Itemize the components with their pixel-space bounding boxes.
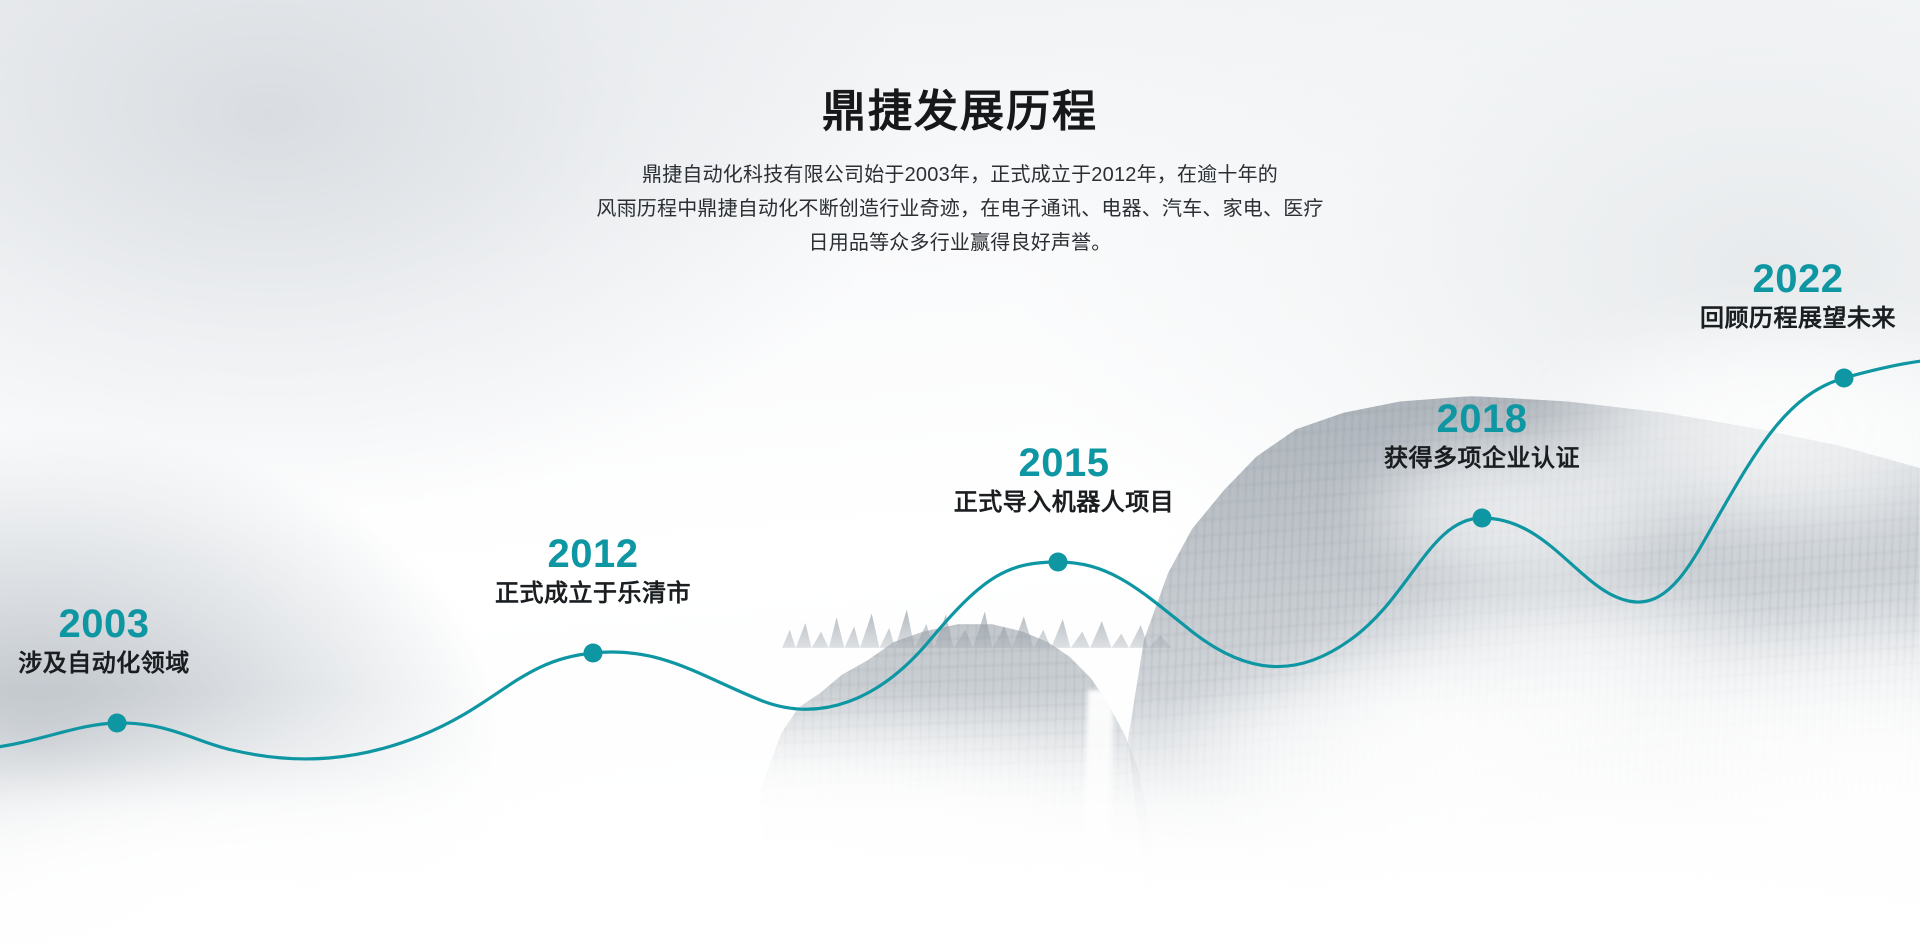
milestone-2003[interactable]: 2003涉及自动化领域 bbox=[18, 603, 190, 679]
page-title: 鼎捷发展历程 bbox=[0, 88, 1920, 136]
milestone-year: 2003 bbox=[18, 603, 190, 645]
description-line-1: 鼎捷自动化科技有限公司始于2003年，正式成立于2012年，在逾十年的 bbox=[550, 158, 1370, 192]
milestone-year: 2022 bbox=[1700, 258, 1896, 300]
milestone-year: 2015 bbox=[954, 442, 1175, 484]
page-description: 鼎捷自动化科技有限公司始于2003年，正式成立于2012年，在逾十年的 风雨历程… bbox=[550, 158, 1370, 260]
milestone-year: 2018 bbox=[1384, 398, 1580, 440]
milestone-2015[interactable]: 2015正式导入机器人项目 bbox=[954, 442, 1175, 518]
infographic-canvas: 鼎捷发展历程 鼎捷自动化科技有限公司始于2003年，正式成立于2012年，在逾十… bbox=[0, 0, 1920, 950]
milestone-year: 2012 bbox=[495, 533, 691, 575]
milestone-label: 获得多项企业认证 bbox=[1384, 444, 1580, 474]
description-line-2: 风雨历程中鼎捷自动化不断创造行业奇迹，在电子通讯、电器、汽车、家电、医疗 bbox=[550, 192, 1370, 226]
milestone-2022[interactable]: 2022回顾历程展望未来 bbox=[1700, 258, 1896, 334]
milestone-label: 回顾历程展望未来 bbox=[1700, 304, 1896, 334]
header-block: 鼎捷发展历程 鼎捷自动化科技有限公司始于2003年，正式成立于2012年，在逾十… bbox=[0, 88, 1920, 260]
milestone-label: 正式成立于乐清市 bbox=[495, 579, 691, 609]
milestone-label: 正式导入机器人项目 bbox=[954, 488, 1175, 518]
fog-sheet bbox=[0, 690, 1920, 950]
description-line-3: 日用品等众多行业赢得良好声誉。 bbox=[550, 226, 1370, 260]
milestone-label: 涉及自动化领域 bbox=[18, 649, 190, 679]
milestone-2018[interactable]: 2018获得多项企业认证 bbox=[1384, 398, 1580, 474]
milestone-2012[interactable]: 2012正式成立于乐清市 bbox=[495, 533, 691, 609]
